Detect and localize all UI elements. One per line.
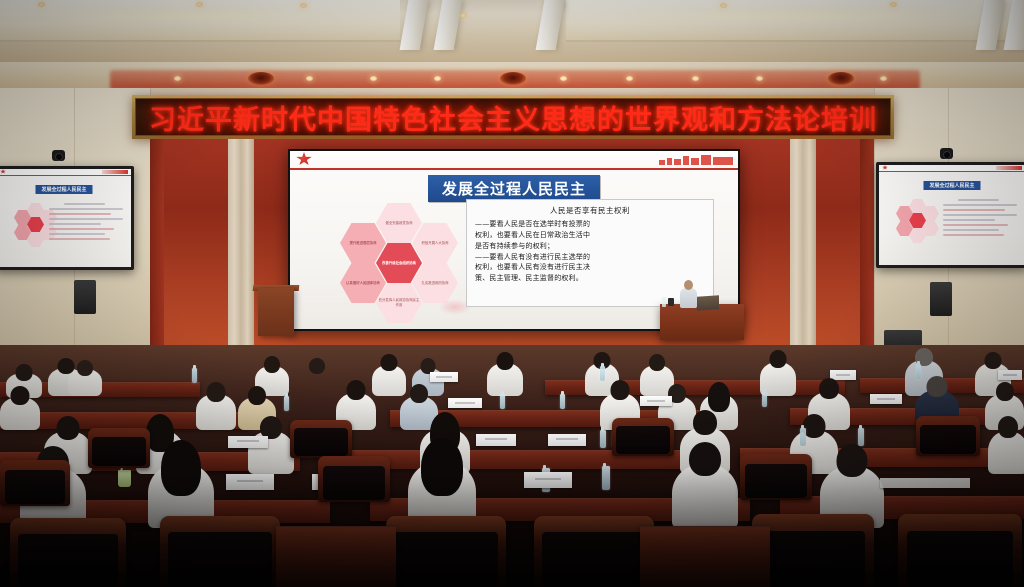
presenter-head [684, 280, 693, 290]
monitor-slide-title: 发展全过程人民民主 [923, 181, 980, 190]
textbox-heading: 人民是否享有民主权利 [475, 205, 705, 216]
right-camera-icon [940, 148, 953, 159]
hex-cell: 提升推进基层协商 [340, 223, 386, 263]
textbox-line: 权利，也要看人民有没有进行民主决 [475, 262, 705, 273]
monitor-text-lines [943, 199, 1017, 239]
textbox-line: 权利，也要看人民在日常政治生活中 [475, 230, 705, 241]
water-bottle [284, 396, 289, 411]
name-card [548, 434, 586, 446]
water-bottle [600, 366, 605, 381]
name-card [430, 372, 458, 382]
hex-cell: 扎实推进政府协商 [412, 263, 458, 303]
led-banner: 习近平新时代中国特色社会主义思想的世界观和方法论培训 [132, 95, 894, 139]
foreground-chair [10, 518, 126, 587]
audience-chair [740, 454, 812, 500]
attendee [148, 440, 214, 528]
textbox-line: ——要看人民有没有进行民主选举的 [475, 252, 705, 263]
ceiling-downlight [306, 76, 313, 81]
party-emblem-icon [882, 165, 888, 170]
attendee [300, 358, 334, 396]
audience-chair [88, 428, 150, 468]
great-hall-building-icon [102, 170, 128, 174]
ceiling-downlight [692, 76, 699, 81]
stage-curtain-right [790, 139, 816, 354]
ceiling-downlight [880, 76, 887, 81]
great-hall-building-icon [659, 154, 733, 165]
name-card [476, 434, 516, 446]
stage-spotlight [500, 72, 526, 85]
slide-title-container: 发展全过程人民民主 [290, 175, 738, 202]
textbox-line: 是否有持续参与的权利； [475, 241, 705, 252]
stage-spotlight [828, 72, 854, 85]
foreground-chair [534, 516, 654, 587]
presenter-body [680, 288, 697, 308]
ceiling-downlight [756, 76, 763, 81]
attendee [487, 352, 523, 396]
stage-curtain-left [228, 139, 254, 354]
hex-cell: 健全完善政党协商 [376, 203, 422, 243]
slide-textbox: 人民是否享有民主权利 ——要看人民是否在选举时有投票的 权利，也要看人民在日常政… [466, 199, 714, 307]
presenter-cup [668, 298, 674, 306]
left-wall-monitor: 发展全过程人民民主 [0, 166, 134, 270]
water-bottle [800, 428, 806, 446]
ceiling-downlight [560, 76, 567, 81]
name-card [998, 370, 1022, 380]
honeycomb-diagram: 健全完善政党协商 积极开展人大协商 提升推进基层协商 改善升级社会组织协商 认真… [326, 203, 476, 321]
banner-title-text: 习近平新时代中国特色社会主义思想的世界观和方法论培训 [149, 98, 877, 137]
name-card [640, 396, 672, 406]
stage-spotlight [248, 72, 274, 85]
water-bottle [560, 394, 565, 409]
foreground-chair [386, 516, 506, 587]
name-card [226, 474, 274, 490]
name-card [228, 436, 268, 448]
right-wall-monitor: 发展全过程人民民主 [876, 162, 1024, 268]
attendee [0, 386, 40, 430]
party-emblem-icon [0, 169, 6, 174]
wall-speaker [930, 282, 952, 316]
speaking-podium [258, 288, 294, 336]
slide-header-strip [290, 151, 738, 170]
great-hall-building-icon [996, 166, 1022, 170]
name-card [870, 394, 902, 404]
monitor-text-lines [49, 203, 123, 243]
monitor-honeycomb-diagram [891, 199, 943, 243]
hex-cell: 充分发挥人民政协协商民主作用 [376, 283, 422, 323]
audience-chair [318, 456, 390, 502]
audience-chair [290, 420, 352, 458]
party-emblem-icon [296, 152, 312, 166]
attendee [672, 442, 738, 528]
audience-chair [916, 416, 980, 456]
presenter-water-bottle [662, 297, 666, 307]
ceiling-downlight [626, 76, 633, 81]
monitor-slide-title: 发展全过程人民民主 [35, 185, 92, 194]
handout-paper [880, 478, 970, 488]
hex-cell: 积极开展人大协商 [412, 223, 458, 263]
water-bottle [192, 368, 197, 383]
presenter-laptop [697, 295, 719, 311]
audience-chair [612, 418, 674, 456]
foreground-desk [276, 526, 396, 587]
audience-chair [0, 460, 70, 506]
water-bottle [600, 430, 606, 448]
name-card [448, 398, 482, 408]
textbox-line: 策、民主管理、民主监督的权利。 [475, 273, 705, 284]
foreground-desk [640, 526, 770, 587]
ceiling-downlight [370, 76, 377, 81]
ceiling-downlight [174, 76, 181, 81]
foreground-chair [898, 514, 1022, 587]
attendee [988, 416, 1024, 474]
attendee [68, 360, 102, 396]
hex-cell: 认真做好人民团体协商 [340, 263, 386, 303]
left-camera-icon [52, 150, 65, 161]
slide-title: 发展全过程人民民主 [428, 175, 600, 202]
textbox-line: ——要看人民是否在选举时有投票的 [475, 219, 705, 230]
ceiling-downlight [434, 76, 441, 81]
hex-cell-center: 改善升级社会组织协商 [376, 243, 422, 283]
foreground-chair [160, 516, 280, 587]
attendee [196, 382, 236, 430]
wall-speaker [74, 280, 96, 314]
water-bottle [500, 394, 505, 409]
attendee [408, 438, 476, 528]
ceiling [0, 0, 1024, 62]
foreground-chair [752, 514, 874, 587]
conference-hall-photo: 习近平新时代中国特色社会主义思想的世界观和方法论培训 [0, 0, 1024, 587]
name-card [524, 472, 572, 488]
water-bottle [762, 392, 767, 407]
green-drink-cup [118, 470, 131, 487]
water-bottle [602, 466, 610, 490]
